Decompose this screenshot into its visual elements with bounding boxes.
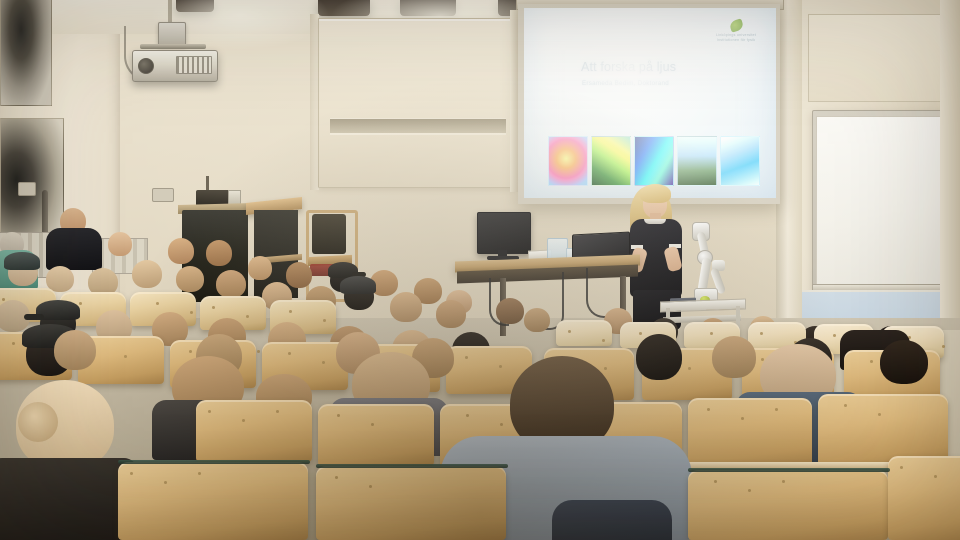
seat-screw <box>500 423 503 426</box>
audience-head <box>636 334 682 380</box>
presentation-slide: Linköpings universitet Institutionen för… <box>524 8 776 198</box>
seat-edge-trim <box>688 468 890 472</box>
projector-arm <box>140 44 206 49</box>
lecture-hall-photo: Linköpings universitet Institutionen för… <box>0 0 960 540</box>
chair-back <box>312 214 346 254</box>
seat-screw <box>289 310 292 313</box>
seat[interactable] <box>316 466 506 540</box>
audience-person <box>46 228 102 270</box>
seat-screw <box>639 332 642 335</box>
seat-screw <box>688 367 691 370</box>
seat-screw <box>79 302 82 305</box>
seat-screw <box>878 413 881 416</box>
seat-screw <box>604 367 607 370</box>
seat-screw <box>499 365 502 368</box>
wall-pipe <box>42 190 48 238</box>
audience-head <box>216 270 246 298</box>
thumbnail-laser <box>634 136 674 186</box>
slide-logo-line2: Institutionen för fysik <box>710 38 762 43</box>
slide-thumbnail-strip <box>548 136 760 186</box>
seat-screw <box>198 472 201 475</box>
seat[interactable] <box>688 470 888 540</box>
seat-screw <box>288 352 291 355</box>
seat[interactable] <box>888 456 960 540</box>
seat-screw <box>208 410 211 413</box>
seat-screw <box>714 480 717 483</box>
seat-screw <box>775 408 778 411</box>
thumbnail-plants <box>591 136 631 186</box>
seat-screw <box>246 315 249 318</box>
cable <box>586 268 608 318</box>
thumbnail-hand-device <box>720 136 760 186</box>
seat-screw <box>371 423 374 426</box>
seat-screw <box>465 356 468 359</box>
audience-head <box>286 262 312 288</box>
audience-cap <box>340 276 376 294</box>
seat-screw <box>833 334 836 337</box>
seat[interactable] <box>688 398 812 466</box>
seat-screw <box>782 480 785 483</box>
seat-screw <box>156 302 159 305</box>
ceiling-light-fixture <box>318 0 370 16</box>
seat-screw <box>124 355 127 358</box>
thumbnail-spectrum-child <box>548 136 588 186</box>
audience-cap-brim <box>24 314 44 320</box>
thumbnail-landscape <box>677 136 717 186</box>
seat-screw <box>2 298 5 301</box>
seat-screw <box>710 332 713 335</box>
seat-screw <box>707 408 710 411</box>
projector-vent <box>176 56 212 74</box>
seat-screw <box>257 350 260 353</box>
seat-screw <box>130 472 133 475</box>
audience-head <box>108 232 132 256</box>
audience-head <box>524 308 550 332</box>
audience-head <box>132 260 162 288</box>
seat-screw <box>748 489 751 492</box>
wall-socket-icon <box>152 188 174 202</box>
presenter-hair-front <box>640 184 671 203</box>
ceiling-light-fixture <box>176 0 214 12</box>
audience-head <box>496 298 524 324</box>
seat-screw <box>190 311 193 314</box>
slide-subtitle: Ersameda Bedim, Doktorand <box>582 80 669 87</box>
presenter-collar <box>644 219 666 224</box>
seat-screw <box>602 339 605 342</box>
seat-screw <box>337 414 340 417</box>
seat-screw <box>760 332 763 335</box>
wall-panel-slot <box>330 118 506 135</box>
seat-screw <box>369 485 372 488</box>
wall-art-upper <box>0 0 52 106</box>
seat-screw <box>322 361 325 364</box>
wall-socket-icon <box>18 182 36 196</box>
seat-screw <box>335 476 338 479</box>
audience-head <box>54 330 96 370</box>
seat[interactable] <box>196 400 312 462</box>
seat-screw <box>212 306 215 309</box>
seat[interactable] <box>318 404 434 466</box>
projection-screen: Linköpings universitet Institutionen för… <box>524 8 776 198</box>
wall-panel-upper-right <box>808 14 960 102</box>
audience-head <box>248 256 272 280</box>
audience-head <box>880 340 928 384</box>
seat-screw <box>164 481 167 484</box>
seat-edge-trim <box>118 460 310 464</box>
seat-screw <box>844 404 847 407</box>
seat-screw <box>934 475 937 478</box>
audience-person-collar <box>552 500 672 540</box>
audience-hair-bun <box>18 402 58 442</box>
whiteboard[interactable] <box>816 116 960 286</box>
seat-screw <box>741 417 744 420</box>
seat-screw <box>242 419 245 422</box>
audience-head <box>436 300 466 328</box>
seat-screw <box>276 410 279 413</box>
audience-head <box>176 266 204 292</box>
seat-edge-trim <box>316 464 508 468</box>
seat-screw <box>466 414 469 417</box>
audience-cap <box>4 252 40 270</box>
seat-screw <box>942 345 945 348</box>
projector-lens-icon <box>138 58 154 74</box>
seat-screw <box>189 350 192 353</box>
seat-screw <box>12 342 15 345</box>
seat[interactable] <box>118 462 308 540</box>
slide-title: Att forska på ljus <box>581 60 676 74</box>
audience-head <box>712 336 756 378</box>
audience-head <box>168 238 194 264</box>
seat-screw <box>870 360 873 363</box>
seat[interactable] <box>556 320 612 346</box>
audience-head <box>390 292 422 322</box>
seat-screw <box>323 319 326 322</box>
desktop-monitor <box>477 212 531 254</box>
audience-head <box>206 240 232 266</box>
seat-screw <box>568 330 571 333</box>
seat-screw <box>900 466 903 469</box>
wall-panel <box>318 18 516 188</box>
slide-logo: Linköpings universitet Institutionen för… <box>710 20 762 46</box>
leaf-logo-icon <box>728 18 744 32</box>
ceiling-light-fixture <box>400 0 456 16</box>
